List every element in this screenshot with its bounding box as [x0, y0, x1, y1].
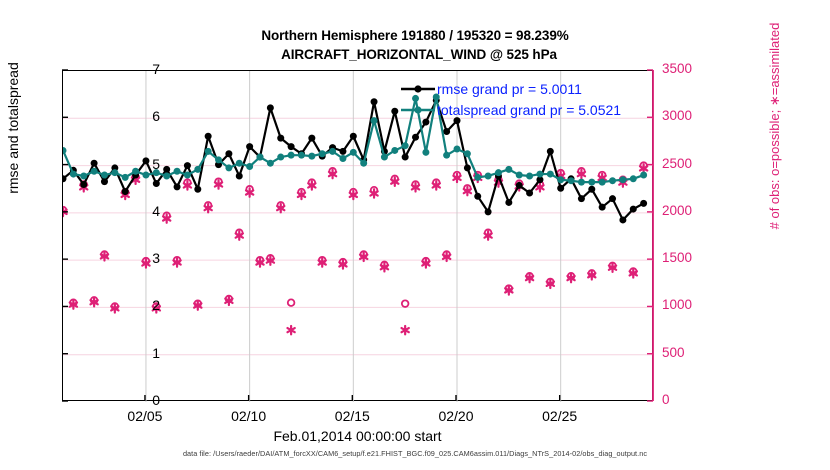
series-point — [339, 155, 346, 162]
y-axis-tick-right: 1000 — [662, 297, 706, 312]
series-point — [153, 180, 160, 187]
y-axis-tick-right: 1500 — [662, 250, 706, 265]
legend-item-rmse: rmse grand pr = 5.0011 — [400, 80, 621, 98]
series-point — [91, 160, 98, 167]
series-point — [308, 153, 315, 160]
chart-title: Northern Hemisphere 191880 / 195320 = 98… — [0, 26, 830, 64]
series-point — [412, 134, 419, 141]
title-line-1: Northern Hemisphere 191880 / 195320 = 98… — [0, 26, 830, 45]
series-point — [288, 143, 295, 150]
series-point — [101, 172, 108, 179]
y-axis-tick-left: 4 — [120, 203, 160, 219]
series-point — [163, 172, 170, 179]
series-point — [402, 142, 409, 149]
series-point — [288, 152, 295, 159]
x-axis-label: Feb.01,2014 00:00:00 start — [62, 428, 653, 444]
series-point — [298, 152, 305, 159]
series-point — [350, 149, 357, 156]
series-point — [215, 156, 222, 163]
series-point — [443, 128, 450, 135]
series-point — [257, 154, 264, 161]
series-point — [599, 179, 606, 186]
series-point — [422, 149, 429, 156]
series-point — [474, 174, 481, 181]
series-point — [547, 148, 554, 155]
series-point — [609, 177, 616, 184]
series-point — [619, 216, 626, 223]
series-point — [568, 177, 575, 184]
y-axis-tick-left: 6 — [120, 108, 160, 124]
y-axis-tick-left: 0 — [120, 392, 160, 408]
legend-line-sample-totalspread — [400, 103, 436, 117]
series-point — [485, 172, 492, 179]
series-point — [536, 171, 543, 178]
series-point — [194, 166, 201, 173]
y-axis-tick-left: 7 — [120, 61, 160, 77]
data-file-footer: data file: /Users/raeder/DAI/ATM_forcXX/… — [0, 449, 830, 458]
series-point — [194, 186, 201, 193]
series-point — [319, 150, 326, 157]
series-point — [516, 182, 523, 189]
series-point — [599, 204, 606, 211]
series-point — [526, 189, 533, 196]
series-point — [236, 160, 243, 167]
series-point — [225, 150, 232, 157]
series-point — [205, 133, 212, 140]
series-point — [516, 172, 523, 179]
series-point — [329, 148, 336, 155]
series-point — [402, 154, 409, 161]
series-point — [640, 200, 647, 207]
series-point — [495, 169, 502, 176]
series-point — [505, 166, 512, 173]
series-point — [547, 171, 554, 178]
series-point — [578, 179, 585, 186]
series-point — [360, 160, 367, 167]
series-point — [174, 168, 181, 175]
series-point — [111, 169, 118, 176]
y-axis-tick-right: 3500 — [662, 61, 706, 76]
y-axis-label-right: # of obs: o=possible; ∗=assimilated — [767, 0, 783, 291]
legend-item-totalspread: totalspread grand pr = 5.0521 — [400, 101, 621, 119]
legend-label-totalspread: totalspread grand pr = 5.0521 — [437, 102, 621, 118]
series-point — [485, 208, 492, 215]
series-point — [557, 176, 564, 183]
series-point — [443, 152, 450, 159]
series-point — [609, 195, 616, 202]
series-point — [267, 160, 274, 167]
series-point — [184, 172, 191, 179]
y-axis-tick-left: 2 — [120, 297, 160, 313]
series-point — [350, 133, 357, 140]
y-axis-label-left: rmse and totalspread — [5, 0, 21, 293]
series-point — [142, 172, 149, 179]
series-point — [505, 199, 512, 206]
series-point — [246, 143, 253, 150]
obs-assimilated-marker — [402, 326, 409, 334]
series-point — [91, 168, 98, 175]
obs-assimilated-marker — [287, 326, 294, 334]
series-point — [122, 174, 129, 181]
series-point — [80, 181, 87, 188]
y-axis-tick-left: 5 — [120, 156, 160, 172]
x-axis-tick: 02/10 — [214, 408, 284, 424]
y-axis-tick-right: 2500 — [662, 156, 706, 171]
series-point — [70, 171, 77, 178]
x-axis-tick: 02/05 — [110, 408, 180, 424]
series-point — [371, 98, 378, 105]
x-axis-tick: 02/20 — [421, 408, 491, 424]
x-axis-tick: 02/15 — [317, 408, 387, 424]
series-point — [308, 135, 315, 142]
series-point — [454, 146, 461, 153]
series-point — [578, 195, 585, 202]
series-point — [630, 206, 637, 213]
series-point — [464, 150, 471, 157]
obs-possible-marker — [402, 300, 409, 307]
series-point — [246, 163, 253, 170]
y-axis-tick-right: 0 — [662, 392, 706, 407]
series-point — [381, 154, 388, 161]
series-point — [277, 135, 284, 142]
series-point — [184, 162, 191, 169]
series-point — [640, 172, 647, 179]
series-point — [205, 148, 212, 155]
series-point — [122, 188, 129, 195]
series-point — [80, 172, 87, 179]
series-point — [474, 193, 481, 200]
series-point — [339, 148, 346, 155]
series-point — [526, 172, 533, 179]
series-point — [619, 176, 626, 183]
y-axis-tick-right: 3000 — [662, 108, 706, 123]
series-point — [557, 185, 564, 192]
series-point — [174, 183, 181, 190]
series-point — [236, 172, 243, 179]
series-point — [371, 117, 378, 124]
series-point — [163, 166, 170, 173]
obs-possible-marker — [288, 299, 295, 306]
series-point — [101, 178, 108, 185]
series-point — [277, 154, 284, 161]
legend-line-sample-rmse — [400, 82, 436, 96]
y-axis-tick-right: 2000 — [662, 203, 706, 218]
series-point — [63, 147, 67, 154]
series-point — [464, 164, 471, 171]
y-axis-tick-left: 3 — [120, 250, 160, 266]
x-axis-tick: 02/25 — [525, 408, 595, 424]
series-point — [588, 179, 595, 186]
chart-page: Northern Hemisphere 191880 / 195320 = 98… — [0, 0, 830, 470]
series-point — [588, 186, 595, 193]
legend-label-rmse: rmse grand pr = 5.0011 — [437, 81, 582, 97]
series-point — [630, 175, 637, 182]
series-point — [225, 164, 232, 171]
y-axis-tick-right: 500 — [662, 345, 706, 360]
chart-legend: rmse grand pr = 5.0011 totalspread grand… — [398, 78, 625, 121]
series-point — [391, 147, 398, 154]
series-point — [267, 104, 274, 111]
y-axis-tick-left: 1 — [120, 345, 160, 361]
